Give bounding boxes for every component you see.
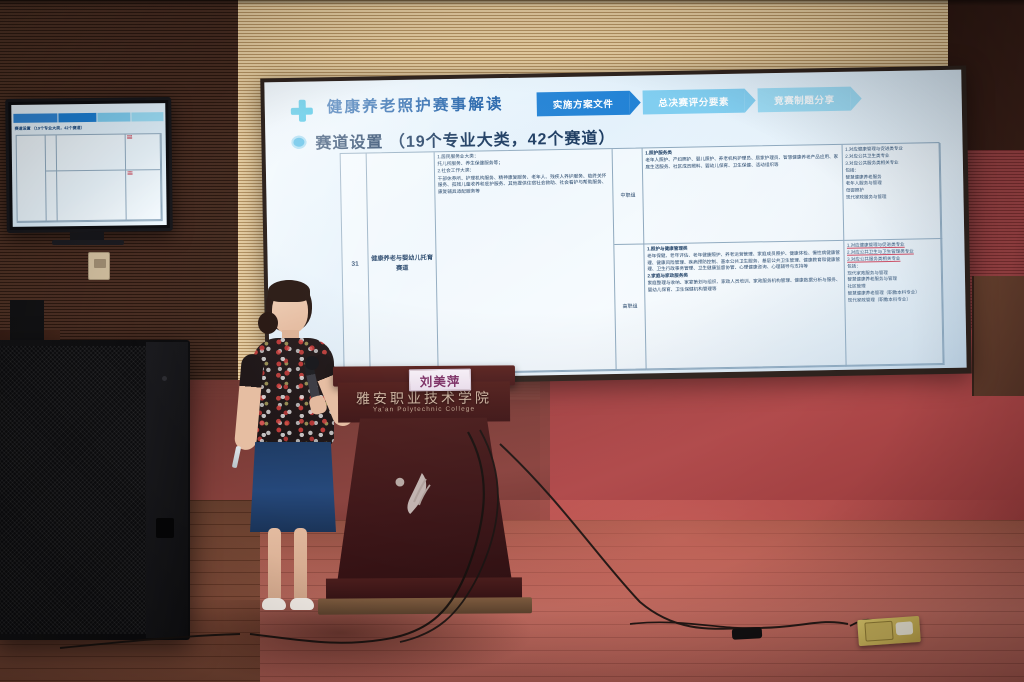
presenter-hair-bun — [258, 312, 278, 334]
side-monitor-ribbon — [13, 112, 163, 123]
major-1-7: 现代家政服务与管理 — [846, 193, 938, 201]
right-doorway — [972, 276, 1024, 396]
bullet-dot-icon — [291, 135, 306, 148]
table-cell-majors-2: 1.对应健康管理与促进类专业 2.对应公共卫生与卫生管理类专业 3.对应公共服务… — [844, 239, 944, 367]
table-cell-scope: 1.居民服务业大类： 托儿所服务、养生保健服务等； 2.社会工作大类： 干部休养… — [435, 149, 617, 374]
side-monitor-cell-major2: ■■■■ — [126, 170, 161, 220]
side-monitor-base — [52, 240, 124, 245]
slide-table: 31 健康养老与婴幼儿托育赛道 1.居民服务业大类： 托儿所服务、养生保健服务等… — [340, 142, 944, 375]
side-monitor: 赛道设置 （19个专业大类，42个赛道） ■■■■ ■■■■ — [5, 97, 173, 233]
cable-connector — [732, 627, 763, 640]
table-cell-group-label-2: 高职组 — [614, 244, 646, 371]
table-cell-majors-1: 1.对应健康管理与促进类专业 2.对应公共卫生类专业 3.对应公共服务类相关专业… — [843, 143, 943, 241]
ribbon-tab-2[interactable]: 总决赛评分要素 — [642, 89, 745, 115]
ceiling-edge — [0, 0, 1024, 6]
side-monitor-title: 赛道设置 （19个专业大类，42个赛道） — [15, 125, 85, 132]
ribbon-tab-1[interactable]: 实施方案文件 — [537, 91, 630, 117]
side-monitor-cell-body1 — [57, 135, 127, 172]
ribbon-tab-3[interactable]: 竞赛制题分享 — [758, 87, 851, 113]
conference-photo: 赛道设置 （19个专业大类，42个赛道） ■■■■ ■■■■ — [0, 0, 1024, 682]
floor-socket-box — [857, 616, 921, 646]
wall-outlet-plate — [88, 252, 110, 280]
projection-screen: 健康养老照护赛事解读 实施方案文件 总决赛评分要素 竞赛制题分享 赛道设置 （1… — [264, 70, 966, 381]
content-body-1: 老年人照护、产妇照护、婴儿照护、养老机构护理员、居家护理员、智慧健康养老产品应用… — [645, 154, 839, 171]
plus-cross-icon — [291, 100, 313, 122]
side-monitor-cell-group1 — [45, 135, 57, 171]
side-monitor-cell-major1: ■■■■ — [126, 134, 161, 171]
table-cell-track-name: 健康养老与婴幼儿托育赛道 — [367, 152, 439, 375]
table-cell-content-1: 1.照护服务类 老年人照护、产妇照护、婴儿照护、养老机构护理员、居家护理员、智慧… — [643, 145, 845, 245]
slide-ribbon-tabs: 实施方案文件 总决赛评分要素 竞赛制题分享 — [531, 86, 851, 118]
major-2-8: 现代家政管理（职教本科专业） — [848, 296, 940, 304]
side-monitor-table: ■■■■ ■■■■ — [16, 133, 163, 223]
presenter-hair-front — [268, 280, 310, 302]
scope-line-4: 干部休养所、护理机构服务、精神康复服务、老年人、残疾人养护服务、临终关怀服务、孤… — [438, 173, 610, 196]
table-cell-group-label-1: 中职组 — [613, 148, 645, 245]
side-monitor-cell-scope — [17, 136, 47, 222]
side-monitor-screen: 赛道设置 （19个专业大类，42个赛道） ■■■■ ■■■■ — [11, 103, 166, 227]
slide-header-title: 健康养老照护赛事解读 — [327, 92, 504, 117]
table-cell-content-2: 1.照护与健康管理类 老年保健、老年评估、老年健康照护、养老运营管理、家庭成员照… — [644, 241, 846, 371]
projection-screen-frame: 健康养老照护赛事解读 实施方案文件 总决赛评分要素 竞赛制题分享 赛道设置 （1… — [260, 66, 972, 387]
side-monitor-cell-group2 — [46, 171, 58, 221]
content-body-2b: 家庭整理与收纳、家宴策划与组织、家政人员培训、家政服务机构管理、健康数据分析与服… — [648, 277, 842, 294]
side-monitor-cell-body2 — [57, 171, 127, 222]
